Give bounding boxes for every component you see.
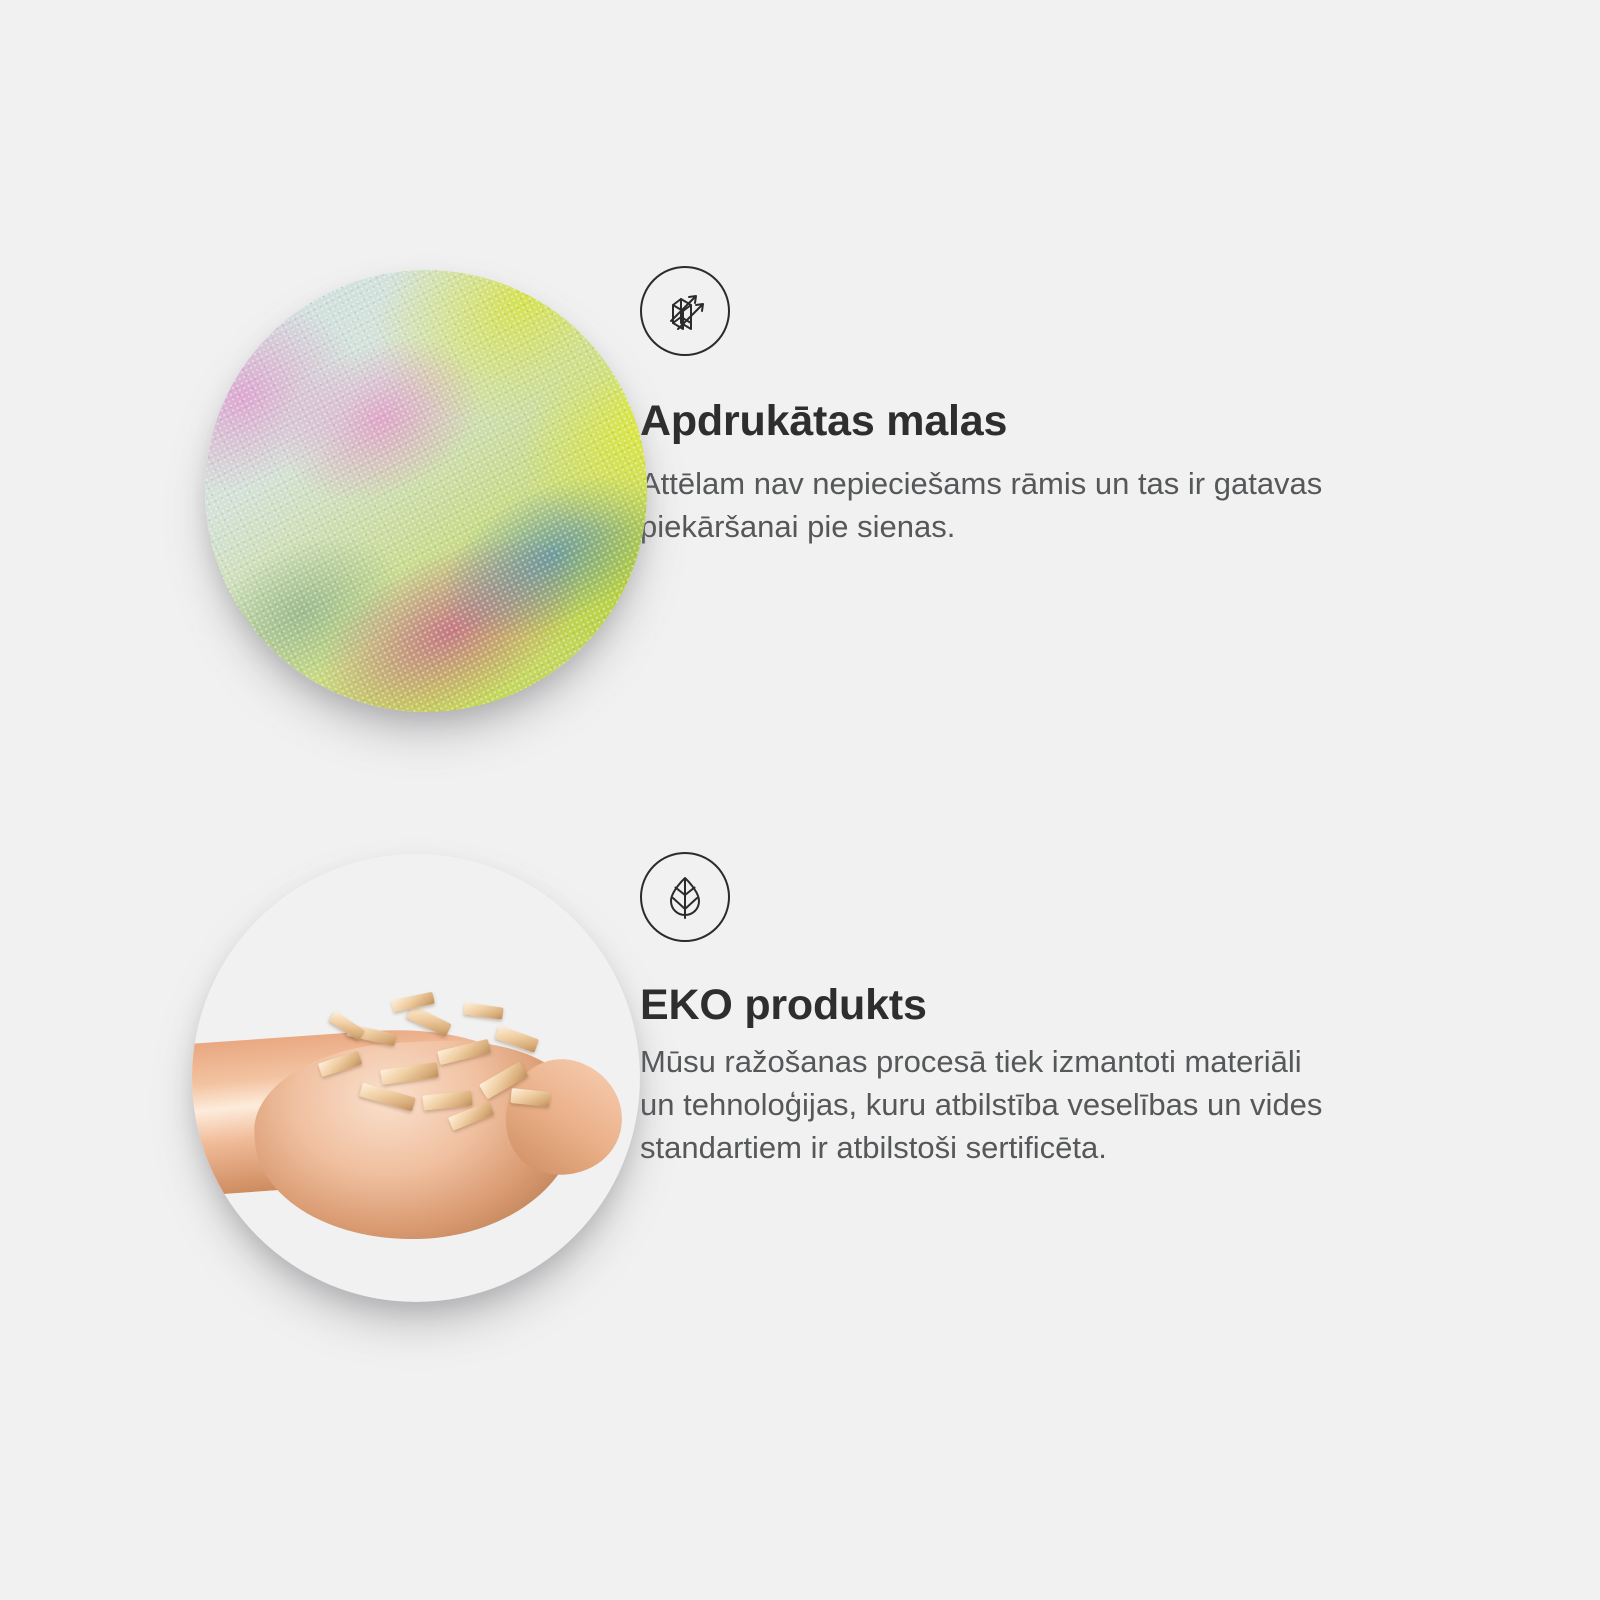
feature-block-printed-edges: Apdrukātas malas Attēlam nav nepieciešam… [0,262,1340,732]
canvas-printed-face [205,270,647,712]
wrapped-canvas-edges-icon [640,266,730,356]
feature-title: Apdrukātas malas [640,398,1340,445]
feature-text-column: EKO produkts Mūsu ražošanas procesā tiek… [640,848,1340,1170]
canvas-print-corner-photo [205,270,647,712]
photo-wood-chip-pile [308,993,568,1145]
feature-title: EKO produkts [640,982,1340,1029]
canvas-texture-overlay [205,270,647,712]
feature-text-column: Apdrukātas malas Attēlam nav nepieciešam… [640,262,1340,549]
product-feature-panel: Apdrukātas malas Attēlam nav nepieciešam… [0,0,1600,1600]
feature-media-wrapper [0,848,640,1318]
feature-description: Mūsu ražošanas procesā tiek izmantoti ma… [640,1041,1340,1169]
feature-block-eco-product: EKO produkts Mūsu ražošanas procesā tiek… [0,848,1340,1318]
leaf-icon [640,852,730,942]
hands-holding-wood-chips-photo [192,854,640,1302]
feature-description: Attēlam nav nepieciešams rāmis un tas ir… [640,463,1340,549]
feature-media-wrapper [0,262,640,732]
